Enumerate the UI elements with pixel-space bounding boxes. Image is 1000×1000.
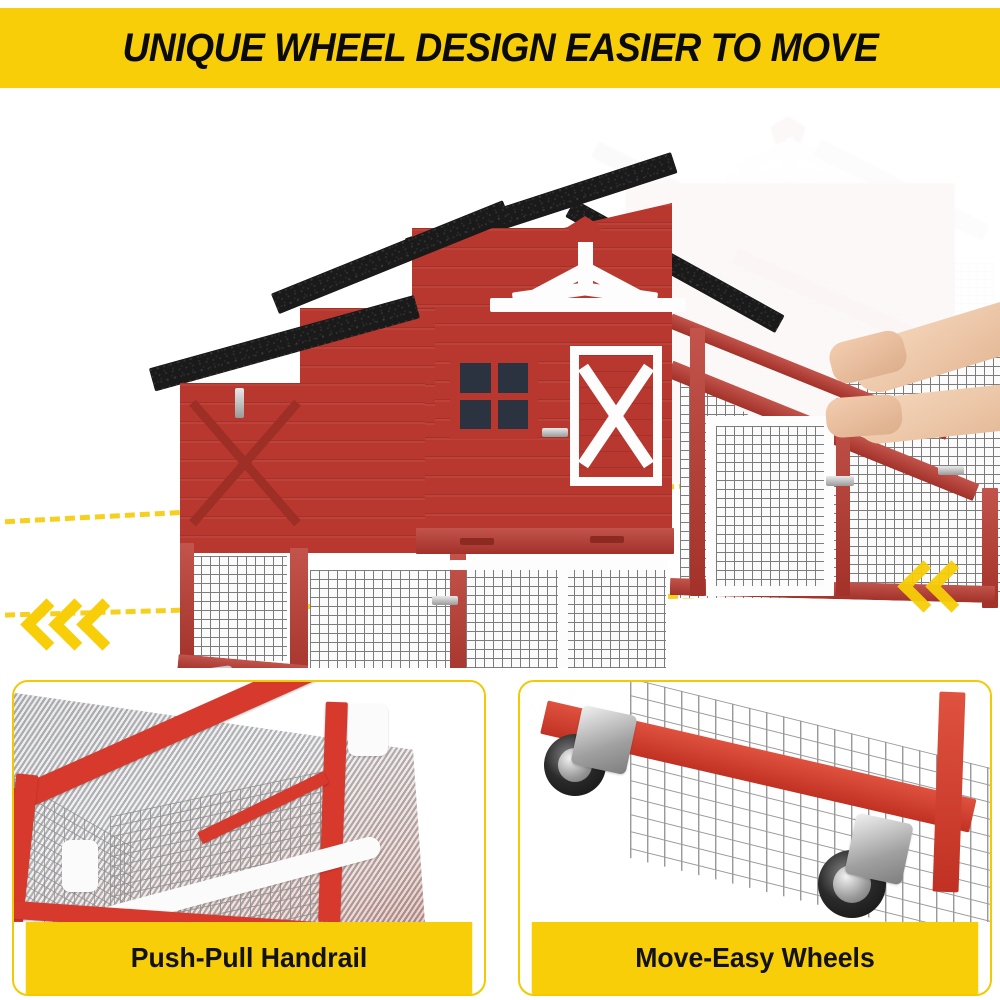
run-far-door-latch-icon[interactable] [938, 466, 964, 475]
caster-bracket-detail-1 [570, 705, 637, 775]
run-left-post [180, 543, 194, 668]
barn-door[interactable] [570, 346, 662, 486]
handrail-mount-bracket [62, 840, 98, 892]
nest-box-latch-icon[interactable] [235, 388, 244, 418]
window-pane [460, 400, 491, 430]
run-door-post [690, 328, 705, 596]
run-door-latch-icon[interactable] [826, 476, 854, 486]
run-left-door-latch-icon[interactable] [432, 596, 458, 605]
hero-image [0, 88, 1000, 668]
gable-trim-star [516, 216, 716, 326]
pull-out-tray[interactable] [416, 528, 674, 554]
person-hand-lower [825, 393, 904, 438]
chicken-coop-illustration [150, 98, 950, 658]
nest-box-door[interactable] [190, 398, 300, 528]
run-post-center [450, 553, 466, 668]
page-title: UNIQUE WHEEL DESIGN EASIER TO MOVE [122, 26, 878, 71]
header-banner: UNIQUE WHEEL DESIGN EASIER TO MOVE [0, 8, 1000, 88]
run-mesh-left-front [310, 570, 455, 668]
handrail-photo [14, 682, 484, 922]
run-corner-post [290, 548, 308, 668]
feature-panel-handrail: Push-Pull Handrail [12, 680, 486, 996]
run-door-mesh [716, 426, 824, 586]
tray-handle-icon[interactable] [590, 536, 624, 543]
barn-door-panel [579, 355, 653, 477]
panel-caption-wheels: Move-Easy Wheels [532, 922, 979, 994]
window-pane [498, 400, 529, 430]
run-mesh-left-side [192, 556, 287, 661]
coop-window [450, 353, 538, 439]
handrail-end-cap [348, 704, 388, 756]
feature-panels: Push-Pull Handrail Move-Easy Wheels [0, 680, 1000, 998]
tray-handle-icon[interactable] [460, 538, 494, 545]
window-pane [460, 363, 491, 393]
run-white-divider [558, 560, 568, 668]
panel-caption-handrail: Push-Pull Handrail [26, 922, 473, 994]
wheels-photo [520, 682, 990, 922]
product-feature-graphic: UNIQUE WHEEL DESIGN EASIER TO MOVE [0, 0, 1000, 1000]
window-pane [498, 363, 529, 393]
barn-door-latch-icon[interactable] [542, 428, 568, 437]
feature-panel-wheels: Move-Easy Wheels [518, 680, 992, 996]
